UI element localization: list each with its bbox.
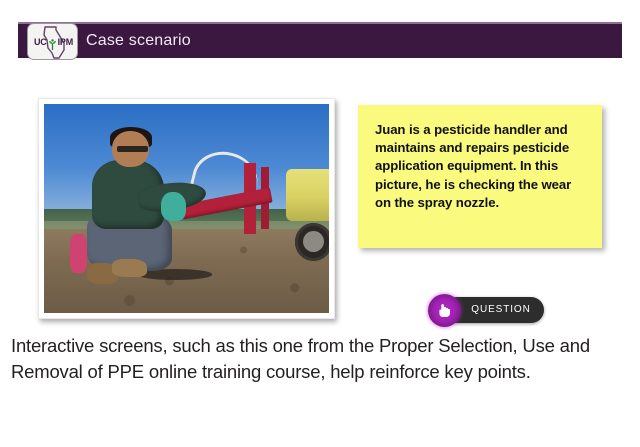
question-button[interactable]: QUESTION (428, 294, 544, 327)
header-bar: Case scenario (18, 24, 622, 58)
pointing-hand-cursor-icon[interactable] (428, 294, 461, 327)
hand-glyph (438, 303, 451, 318)
logo-uc-text: UC (34, 38, 47, 47)
logo-ipm-text: IPM (58, 38, 73, 47)
uc-ipm-logo-text-row: UC IPM (28, 35, 78, 49)
case-scenario-photo (38, 98, 335, 319)
photo-person-glasses (117, 146, 148, 152)
green-plant-icon (48, 37, 57, 48)
photo-person-glove (161, 192, 187, 221)
photo-person-boot-right (112, 259, 146, 278)
slide-screenshot: Case scenario UC IPM (0, 0, 640, 447)
page-title: Case scenario (86, 24, 191, 58)
photo-wheel (295, 223, 329, 261)
uc-ipm-logo[interactable]: UC IPM (27, 23, 78, 60)
photo-yellow-tank (286, 169, 329, 221)
photo-pink-object (70, 234, 87, 274)
callout-text: Juan is a pesticide handler and maintain… (375, 121, 588, 212)
photo-image (44, 104, 329, 313)
callout-box: Juan is a pesticide handler and maintain… (358, 105, 602, 248)
caption-text: Interactive screens, such as this one fr… (11, 333, 629, 386)
